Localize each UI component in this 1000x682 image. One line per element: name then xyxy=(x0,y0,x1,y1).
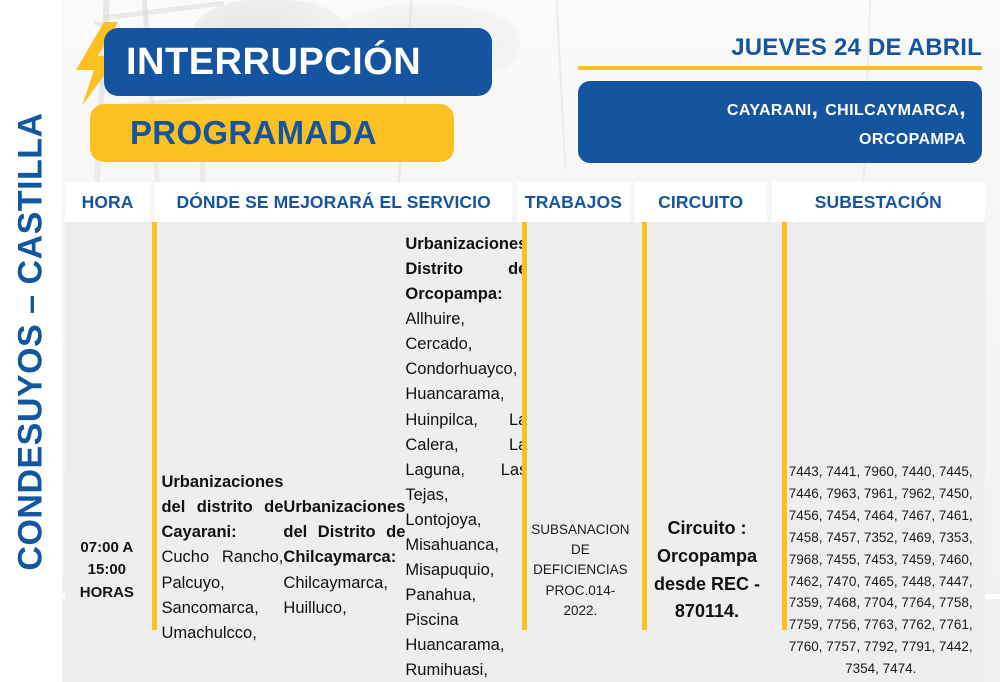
cell-trabajos: SUBSANACION DE DEFICIENCIAS PROC.014-202… xyxy=(523,222,637,682)
circuito-line-3: desde REC - xyxy=(654,571,760,599)
trabajos-line-4: PROC.014-2022. xyxy=(531,581,629,622)
circuito-line-4: 870114. xyxy=(654,598,760,626)
outage-table: HORA DÓNDE SE MEJORARÁ EL SERVICIO TRABA… xyxy=(65,182,985,682)
trabajos-line-3: DEFICIENCIAS xyxy=(531,560,629,580)
column-header-circuito: CIRCUITO xyxy=(635,182,767,222)
hora-line-1: 07:00 A xyxy=(80,537,133,560)
province-side-label-text: CONDESUYOS – CASTILLA xyxy=(12,112,51,570)
circuito-line-2: Orcopampa xyxy=(654,543,760,571)
district-group-label: Urbanizaciones del distrito de Cayarani: xyxy=(161,473,283,541)
column-header-hora: HORA xyxy=(65,182,150,222)
column-divider xyxy=(782,222,787,630)
column-header-subestacion: SUBESTACIÓN xyxy=(772,182,985,222)
column-divider xyxy=(522,222,527,630)
column-header-trabajos: TRABAJOS xyxy=(517,182,630,222)
district-group-orcopampa: Urbanizaciones Distrito de Orcopampa: Al… xyxy=(405,232,527,682)
title-programada-text: PROGRAMADA xyxy=(130,114,377,152)
column-header-donde: DÓNDE SE MEJORARÁ EL SERVICIO xyxy=(155,182,512,222)
interruption-notice-poster: CONDESUYOS – CASTILLA PROGRAMADA INTERRU… xyxy=(0,0,1000,682)
district-group-text: Allhuire, Cercado, Condorhuayco, Huancar… xyxy=(405,310,527,682)
hora-line-3: HORAS xyxy=(80,582,134,605)
subestacion-list: 7443, 7441, 7960, 7440, 7445, 7446, 7963… xyxy=(784,461,977,680)
district-group-label: Urbanizaciones del Distrito de Chilcayma… xyxy=(283,498,405,566)
cell-circuito: Circuito : Orcopampa desde REC - 870114. xyxy=(642,222,771,682)
district-group-text: Chilcaymarca, Huilluco, xyxy=(283,574,388,617)
cell-donde-se-mejorara: Urbanizaciones del distrito de Cayarani:… xyxy=(153,222,518,682)
affected-districts-box: Cayarani, Chilcaymarca, Orcopampa xyxy=(578,81,982,163)
table-row: 07:00 A 15:00 HORAS Urbanizaciones del d… xyxy=(65,222,985,682)
affected-districts-line-2: Orcopampa xyxy=(859,122,966,151)
province-side-label: CONDESUYOS – CASTILLA xyxy=(0,0,62,682)
circuito-line-1: Circuito : xyxy=(654,515,760,543)
title-banner-programada: PROGRAMADA xyxy=(90,104,454,162)
column-divider xyxy=(642,222,647,630)
notice-date: JUEVES 24 DE ABRIL xyxy=(578,34,982,62)
affected-districts-line-1: Cayarani, Chilcaymarca, xyxy=(727,93,966,122)
table-header-row: HORA DÓNDE SE MEJORARÁ EL SERVICIO TRABA… xyxy=(65,182,985,222)
trabajos-line-2: DE xyxy=(531,540,629,560)
column-divider xyxy=(152,222,157,630)
cell-hora: 07:00 A 15:00 HORAS xyxy=(65,222,149,682)
hora-line-2: 15:00 xyxy=(88,559,126,582)
district-group-label: Urbanizaciones Distrito de Orcopampa: xyxy=(405,235,527,303)
district-group-cayarani: Urbanizaciones del distrito de Cayarani:… xyxy=(161,470,283,671)
trabajos-line-1: SUBSANACION xyxy=(531,520,629,540)
district-group-text: Cucho Rancho, Palcuyo, Sancomarca, Umach… xyxy=(161,548,283,641)
district-group-chilcaymarca: Urbanizaciones del Distrito de Chilcayma… xyxy=(283,495,405,645)
date-underline-rule xyxy=(578,66,982,70)
title-banner-interrupcion: INTERRUPCIÓN xyxy=(104,28,492,96)
title-interrupcion-text: INTERRUPCIÓN xyxy=(126,41,421,84)
cell-subestacion: 7443, 7441, 7960, 7440, 7445, 7446, 7963… xyxy=(776,222,985,682)
